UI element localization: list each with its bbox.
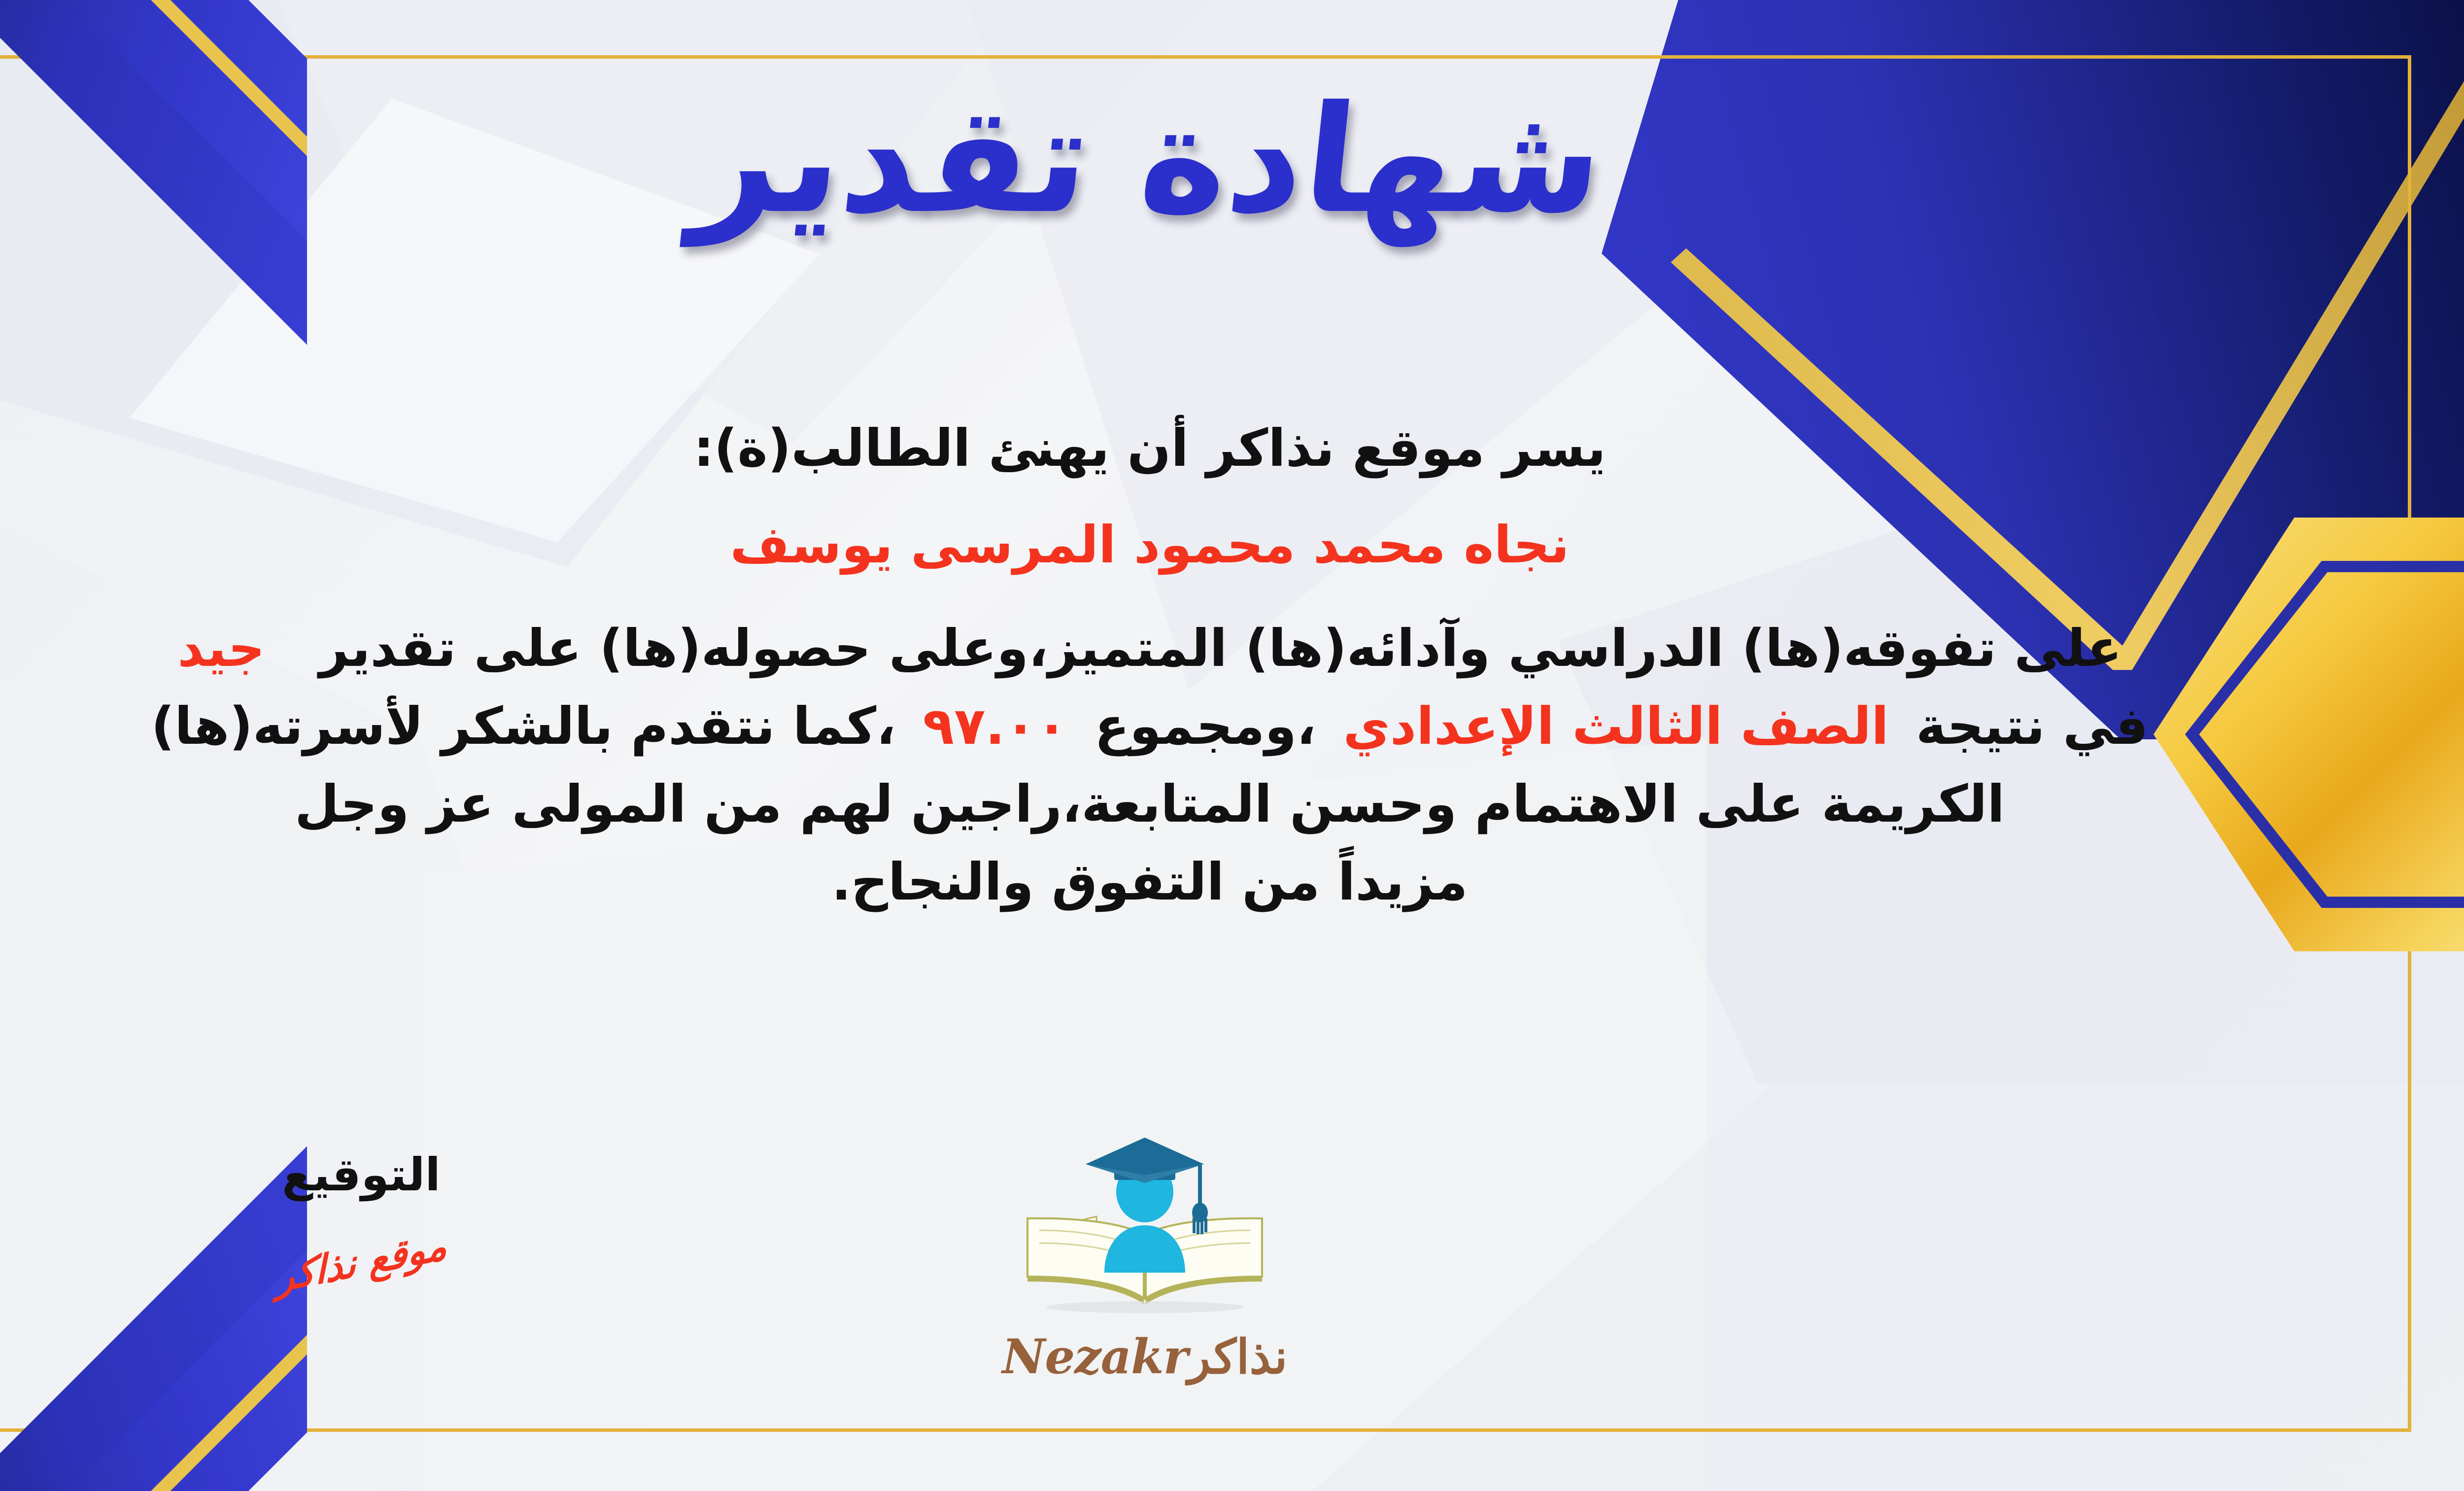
logo-wordmark: نذاكرNezakr [933, 1329, 1357, 1385]
class-value: الصف الثالث الإعدادي [1343, 696, 1888, 756]
thanks-text: ،كما نتقدم بالشكر لأسرته(ها) [151, 696, 896, 756]
page-title: شهادة تقدير [0, 74, 2464, 246]
grade-value: جيد [177, 618, 265, 678]
achievement-line-2: في نتيجةالصف الثالث الإعدادي،ومجموع٩٧.٠٠… [0, 687, 2318, 765]
achievement-line-1: على تفوقه(ها) الدراسي وآدائه(ها) المتميز… [0, 609, 2318, 687]
achievement-paragraph: على تفوقه(ها) الدراسي وآدائه(ها) المتميز… [0, 609, 2318, 921]
certificate-canvas: شهادة تقدير يسر موقع نذاكر أن يهنئ الطال… [0, 0, 2464, 1491]
achievement-line-3: الكريمة على الاهتمام وحسن المتابعة،راجين… [0, 765, 2318, 843]
logo-arabic-text: نذاكر [1188, 1329, 1287, 1385]
score-value: ٩٧.٠٠ [923, 696, 1067, 756]
total-label: ،ومجموع [1095, 696, 1316, 756]
signature-block: التوقيع موقع نذاكر [208, 1148, 514, 1284]
greeting-line: يسر موقع نذاكر أن يهنئ الطالب(ة): [0, 409, 2318, 487]
result-label: في نتيجة [1916, 696, 2149, 756]
logo-latin-text: Nezakr [1002, 1329, 1188, 1385]
student-name: نجاه محمد محمود المرسى يوسف [0, 506, 2318, 584]
certificate-body: يسر موقع نذاكر أن يهنئ الطالب(ة): نجاه م… [0, 409, 2318, 921]
achievement-line-4: مزيداً من التفوق والنجاح. [0, 843, 2318, 921]
graduation-book-logo-icon [1007, 1129, 1283, 1326]
achievement-text-1: على تفوقه(ها) الدراسي وآدائه(ها) المتميز… [319, 618, 2122, 678]
site-logo-block: نذاكرNezakr [933, 1129, 1357, 1385]
signature-label: التوقيع [208, 1148, 514, 1201]
